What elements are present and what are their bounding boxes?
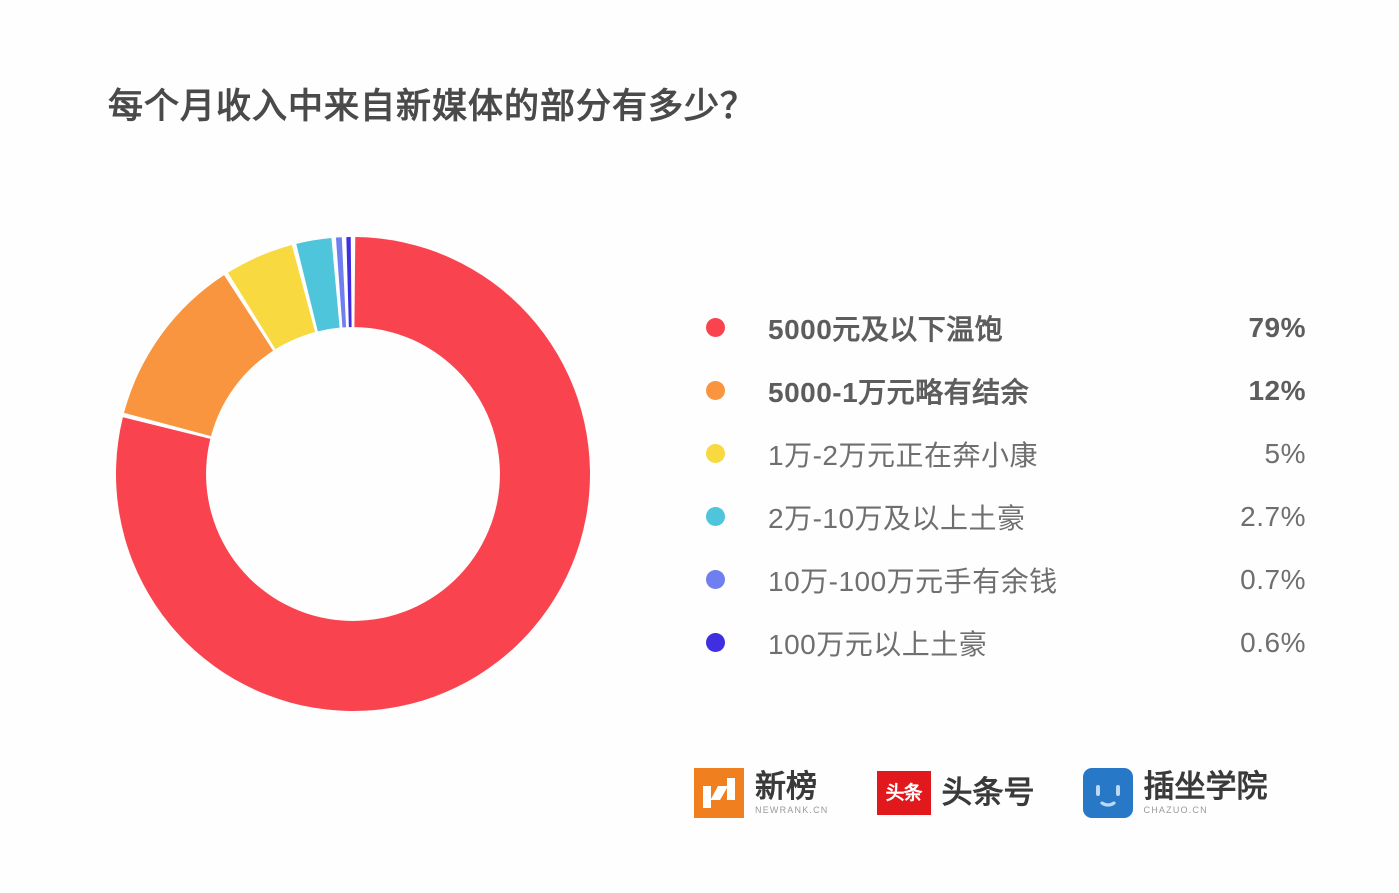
legend-color-swatch-icon — [706, 318, 725, 337]
brand-chazuo: 插坐学院 CHAZUO.CN — [1083, 768, 1268, 818]
page-title: 每个月收入中来自新媒体的部分有多少？ — [108, 86, 756, 128]
newrank-logo-text: 新榜 NEWRANK.CN — [755, 771, 829, 816]
legend-color-swatch-icon — [706, 633, 725, 652]
donut-slice-group — [116, 237, 590, 711]
legend-item[interactable]: 2万-10万及以上土豪2.7% — [706, 485, 1306, 548]
legend-item[interactable]: 5000元及以下温饱79% — [706, 296, 1306, 359]
legend-item[interactable]: 10万-100万元手有余钱0.7% — [706, 548, 1306, 611]
legend-item-value: 12% — [1136, 375, 1306, 407]
chazuo-name: 插坐学院 — [1144, 771, 1268, 804]
legend-item-label: 100万元以上土豪 — [768, 623, 987, 663]
chazuo-logo-mark — [1083, 768, 1133, 818]
legend-item-label: 2万-10万及以上土豪 — [768, 497, 1026, 537]
chazuo-face-icon — [1083, 768, 1133, 818]
legend-item-value: 0.6% — [1136, 627, 1306, 659]
legend-item-label: 5000元及以下温饱 — [768, 308, 1003, 348]
legend-item-label: 5000-1万元略有结余 — [768, 371, 1029, 411]
legend-item-label: 10万-100万元手有余钱 — [768, 560, 1058, 600]
legend-item-value: 79% — [1136, 312, 1306, 344]
donut-chart-svg — [112, 233, 594, 715]
chart-canvas: 每个月收入中来自新媒体的部分有多少？ 5000元及以下温饱79%5000-1万元… — [0, 0, 1399, 893]
brand-newrank: 新榜 NEWRANK.CN — [694, 768, 829, 818]
legend-item[interactable]: 100万元以上土豪0.6% — [706, 611, 1306, 674]
legend-color-swatch-icon — [706, 570, 725, 589]
donut-chart — [112, 233, 594, 715]
brand-logo-bar: 新榜 NEWRANK.CN 头条 头条号 插坐学院 CHAZU — [694, 768, 1268, 818]
legend-color-swatch-icon — [706, 507, 725, 526]
legend-item-value: 2.7% — [1136, 501, 1306, 533]
legend-item-value: 0.7% — [1136, 564, 1306, 596]
toutiao-logo-mark: 头条 — [877, 771, 931, 815]
newrank-n-glyph-icon — [694, 768, 744, 818]
toutiao-badge-text: 头条 — [886, 784, 922, 803]
newrank-name: 新榜 — [755, 771, 829, 804]
legend-item[interactable]: 1万-2万元正在奔小康5% — [706, 422, 1306, 485]
legend-color-swatch-icon — [706, 381, 725, 400]
chazuo-tagline: CHAZUO.CN — [1144, 805, 1268, 815]
toutiao-logo-text: 头条号 — [942, 777, 1035, 810]
donut-slice[interactable] — [346, 237, 351, 327]
legend-item[interactable]: 5000-1万元略有结余12% — [706, 359, 1306, 422]
chart-legend: 5000元及以下温饱79%5000-1万元略有结余12%1万-2万元正在奔小康5… — [706, 296, 1306, 674]
legend-color-swatch-icon — [706, 444, 725, 463]
legend-item-label: 1万-2万元正在奔小康 — [768, 434, 1038, 474]
newrank-tagline: NEWRANK.CN — [755, 805, 829, 815]
brand-toutiao: 头条 头条号 — [877, 771, 1035, 815]
chazuo-logo-text: 插坐学院 CHAZUO.CN — [1144, 771, 1268, 816]
legend-item-value: 5% — [1136, 438, 1306, 470]
newrank-logo-mark — [694, 768, 744, 818]
toutiao-name: 头条号 — [942, 777, 1035, 810]
